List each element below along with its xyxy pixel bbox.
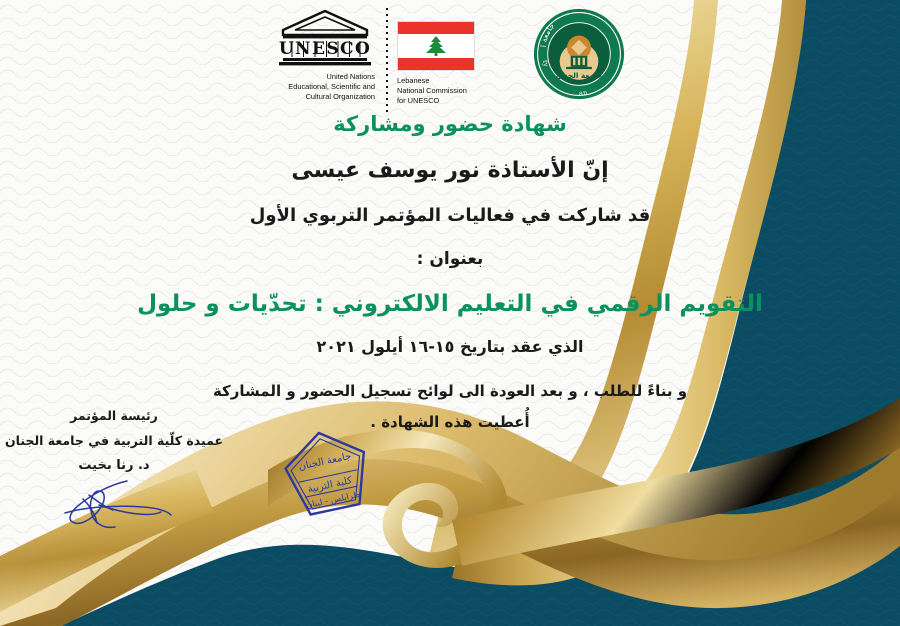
recipient-name: إنّ الأستاذة نور يوسف عيسى [0,158,900,183]
unesco-caption: United Nations Educational, Scientific a… [257,72,375,101]
svg-text:UNESCO: UNESCO [279,39,371,59]
jinan-university-seal-icon: Jinan University Université Jinan جامعة … [533,8,625,100]
lebanon-commission-caption: Lebanese National Commission for UNESCO [397,76,467,105]
lebanon-caption-line-2: National Commission [397,86,467,96]
unesco-caption-line-1: United Nations [257,72,375,82]
header-logos: Jinan University Université Jinan جامعة … [0,8,900,113]
conference-date: الذي عقد بتاريخ ١٥-١٦ أيلول ٢٠٢١ [0,337,900,356]
lebanon-caption-line-3: for UNESCO [397,96,467,106]
certificate-body: شهادة حضور ومشاركة إنّ الأستاذة نور يوسف… [0,108,900,431]
cedar-tree-icon [421,35,451,57]
lebanon-flag-icon [397,21,475,71]
svg-text:جامعة الجنان: جامعة الجنان [556,71,602,80]
closing-line-1: و بناءً للطلب ، و بعد العودة الى لوائح ت… [0,382,900,400]
signature-department: عميدة كلّية التربية في جامعة الجنان [0,433,228,448]
unesco-logo-group: UNESCO [275,8,375,101]
signature-role: رئيسة المؤتمر [0,408,228,423]
unesco-partner-block: UNESCO [275,8,475,112]
signature-person-name: د. رنا بخيت [0,458,228,473]
under-title-label: بعنوان : [0,249,900,269]
lebanon-commission-group: Lebanese National Commission for UNESCO [397,8,475,105]
handwritten-signature-icon [0,475,228,535]
unesco-caption-line-2: Educational, Scientific and [257,82,375,92]
certificate-canvas: Jinan University Université Jinan جامعة … [0,0,900,626]
vertical-dotted-separator-icon [382,8,392,112]
signature-block: رئيسة المؤتمر عميدة كلّية التربية في جام… [0,408,228,535]
official-stamp-icon: جامعة الجنان كلية التربية طرابلس - لبنان [276,424,380,528]
unesco-caption-line-3: Cultural Organization [257,92,375,102]
certificate-content: Jinan University Université Jinan جامعة … [0,0,900,626]
conference-topic: التقويم الرقمي في التعليم الالكتروني : ت… [0,291,900,317]
participation-statement: قد شاركت في فعاليات المؤتمر التربوي الأو… [0,205,900,226]
unesco-temple-icon: UNESCO [275,8,375,68]
certificate-heading: شهادة حضور ومشاركة [0,112,900,136]
lebanon-caption-line-1: Lebanese [397,76,467,86]
